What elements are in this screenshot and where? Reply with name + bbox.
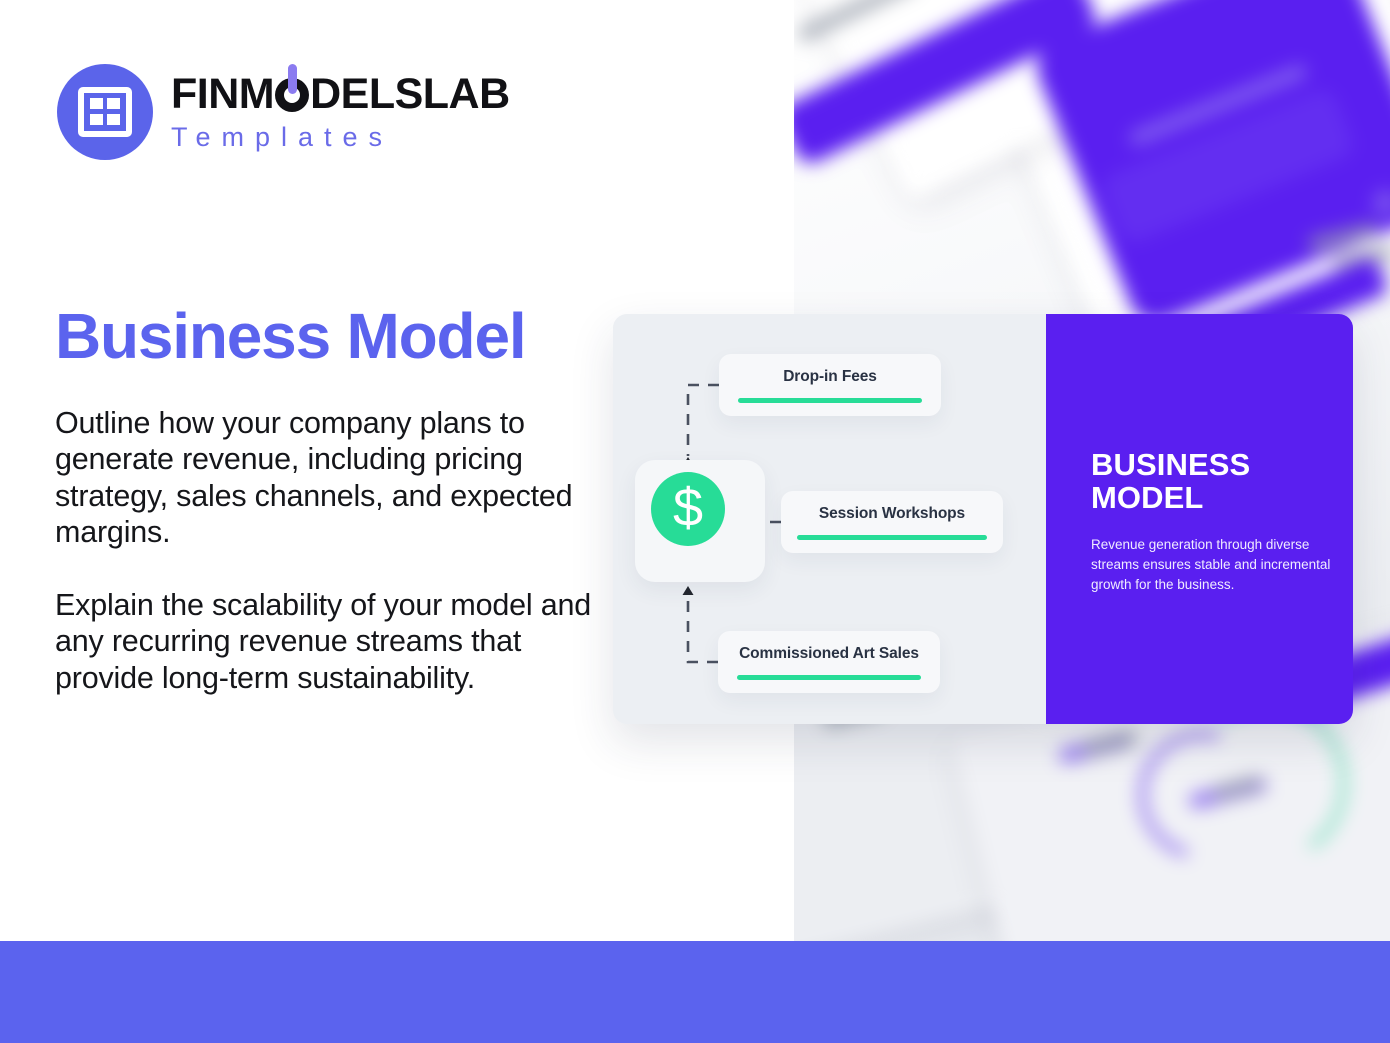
revenue-stream-bar: [797, 535, 987, 540]
body-paragraph-2: Explain the scalability of your model an…: [55, 587, 600, 696]
callout-title-line-1: BUSINESS: [1091, 448, 1341, 481]
revenue-stream-label: Session Workshops: [819, 505, 965, 523]
callout-description: Revenue generation through diverse strea…: [1091, 535, 1336, 595]
revenue-stream-bar: [737, 675, 921, 680]
revenue-stream-label: Drop-in Fees: [783, 368, 877, 386]
power-pin-o-icon: [275, 78, 309, 112]
callout-content: BUSINESS MODEL Revenue generation throug…: [1091, 448, 1341, 595]
brand-logo[interactable]: FINM DELSLAB Templates: [57, 64, 510, 160]
brand-name-part-1: FINM: [171, 73, 274, 116]
revenue-stream-bar: [738, 398, 922, 403]
revenue-diagram-card: $ Drop-in Fees Session Workshops Commiss…: [613, 314, 1353, 724]
revenue-center-node: $: [635, 460, 765, 582]
revenue-stream-label: Commissioned Art Sales: [739, 645, 919, 663]
page-title: Business Model: [55, 302, 525, 371]
dollar-glyph: $: [673, 481, 703, 535]
brand-name-part-2: DELSLAB: [310, 73, 510, 116]
body-paragraph-1: Outline how your company plans to genera…: [55, 405, 600, 550]
body-copy: Outline how your company plans to genera…: [55, 405, 600, 696]
slide-root: FINM DELSLAB Templates Business Model Ou…: [0, 0, 1390, 1043]
brand-wordmark: FINM DELSLAB: [171, 73, 510, 116]
brand-tagline: Templates: [171, 124, 510, 151]
footer-bar: [0, 941, 1390, 1043]
grid-squares-icon: [57, 64, 153, 160]
dollar-sign-icon: $: [651, 472, 725, 546]
revenue-stream-item[interactable]: Session Workshops: [781, 491, 1003, 553]
brand-text: FINM DELSLAB Templates: [171, 73, 510, 151]
revenue-stream-item[interactable]: Commissioned Art Sales: [718, 631, 940, 693]
revenue-stream-item[interactable]: Drop-in Fees: [719, 354, 941, 416]
callout-title-line-2: MODEL: [1091, 481, 1341, 514]
